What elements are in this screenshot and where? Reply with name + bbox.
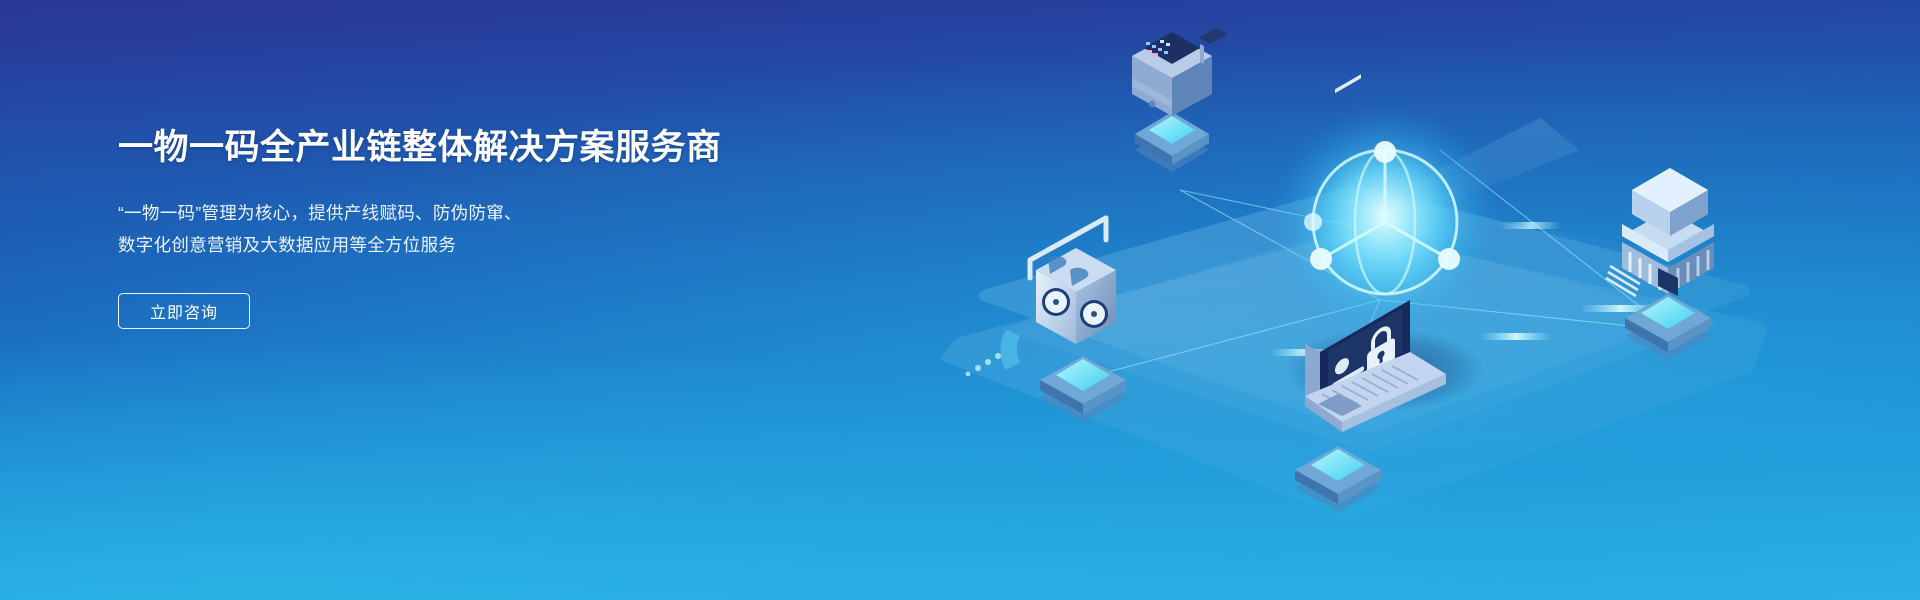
server-rack-icon [1030,218,1116,344]
pedestal [1135,112,1209,172]
page-title: 一物一码全产业链整体解决方案服务商 [118,126,738,171]
server-rack-node [966,218,1126,422]
pos-register-icon [1132,0,1228,116]
hero-subtitle: “一物一码”管理为核心，提供产线赋码、防伪防窜、 数字化创意营销及大数据应用等全… [118,197,738,261]
hero-illustration [880,0,1920,600]
hero-copy-block: 一物一码全产业链整体解决方案服务商 “一物一码”管理为核心，提供产线赋码、防伪防… [118,126,738,329]
consult-now-button[interactable]: 立即咨询 [118,293,250,329]
subtitle-line-1: “一物一码”管理为核心，提供产线赋码、防伪防窜、 [118,197,738,229]
pos-terminal-node [1132,0,1228,172]
subtitle-line-2: 数字化创意营销及大数据应用等全方位服务 [118,229,738,261]
hero-banner: 一物一码全产业链整体解决方案服务商 “一物一码”管理为核心，提供产线赋码、防伪防… [0,0,1920,600]
